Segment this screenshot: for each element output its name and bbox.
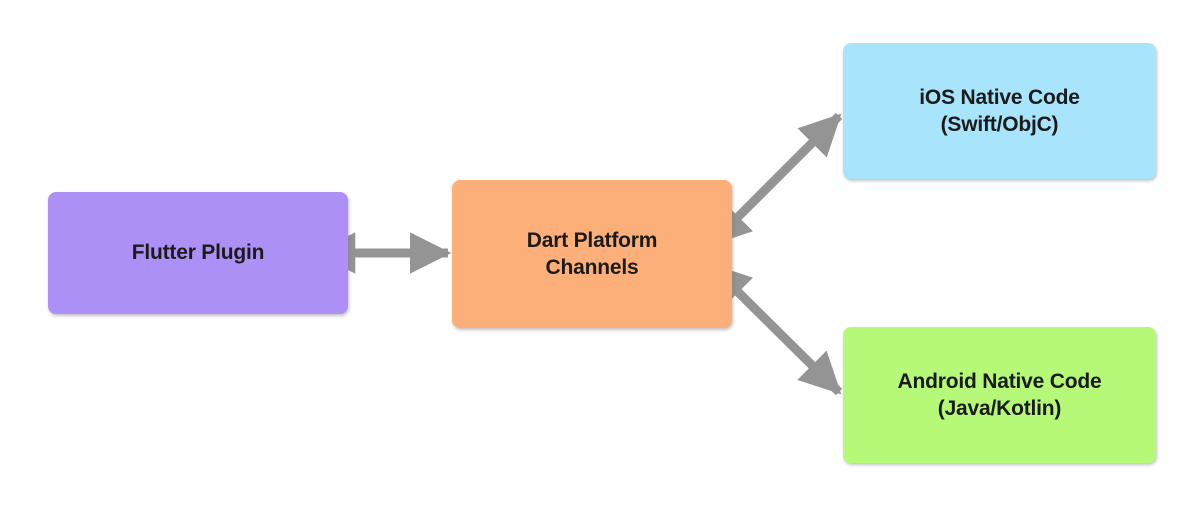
node-flutter-plugin-label: Flutter Plugin [122, 239, 275, 266]
connector-dart-platform-channels-to-ios-native-code [736, 116, 839, 219]
node-flutter-plugin[interactable]: Flutter Plugin [48, 192, 348, 314]
connector-dart-platform-channels-to-android-native-code [736, 290, 839, 392]
node-android-native-code-label: Android Native Code (Java/Kotlin) [888, 368, 1112, 423]
node-ios-native-code[interactable]: iOS Native Code (Swift/ObjC) [843, 43, 1156, 179]
node-ios-native-code-label: iOS Native Code (Swift/ObjC) [909, 84, 1089, 139]
diagram-canvas: Flutter Plugin Dart Platform Channels iO… [0, 0, 1200, 510]
node-android-native-code[interactable]: Android Native Code (Java/Kotlin) [843, 327, 1156, 463]
node-dart-platform-channels-label: Dart Platform Channels [517, 227, 667, 282]
node-dart-platform-channels[interactable]: Dart Platform Channels [452, 180, 732, 328]
